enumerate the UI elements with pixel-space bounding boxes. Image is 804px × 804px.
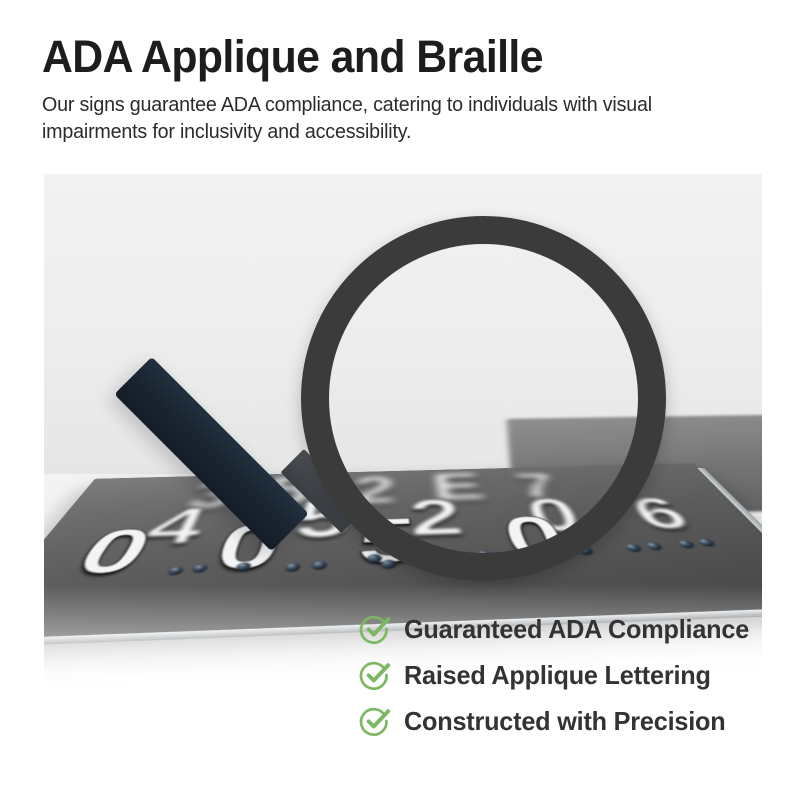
ada-sign: 3 5 2 E 7 4 5 2 0 6 0 0 5 0	[44, 294, 762, 654]
list-item: Constructed with Precision	[358, 704, 778, 738]
sign-side-bevel	[697, 468, 762, 599]
list-item-label: Raised Applique Lettering	[404, 660, 711, 691]
list-item: Raised Applique Lettering	[358, 658, 778, 692]
check-circle-icon	[358, 704, 392, 738]
list-item-label: Constructed with Precision	[404, 706, 725, 737]
header: ADA Applique and Braille Our signs guara…	[42, 34, 762, 145]
check-circle-icon	[358, 612, 392, 646]
braille-dots	[44, 536, 762, 593]
check-circle-icon	[358, 658, 392, 692]
list-item: Guaranteed ADA Compliance	[358, 612, 778, 646]
ada-applique-braille-page: ADA Applique and Braille Our signs guara…	[0, 0, 804, 804]
page-subtitle: Our signs guarantee ADA compliance, cate…	[42, 91, 714, 146]
list-item-label: Guaranteed ADA Compliance	[404, 614, 749, 645]
feature-list: Guaranteed ADA Compliance Raised Appliqu…	[358, 612, 778, 738]
page-title: ADA Applique and Braille	[42, 34, 726, 81]
